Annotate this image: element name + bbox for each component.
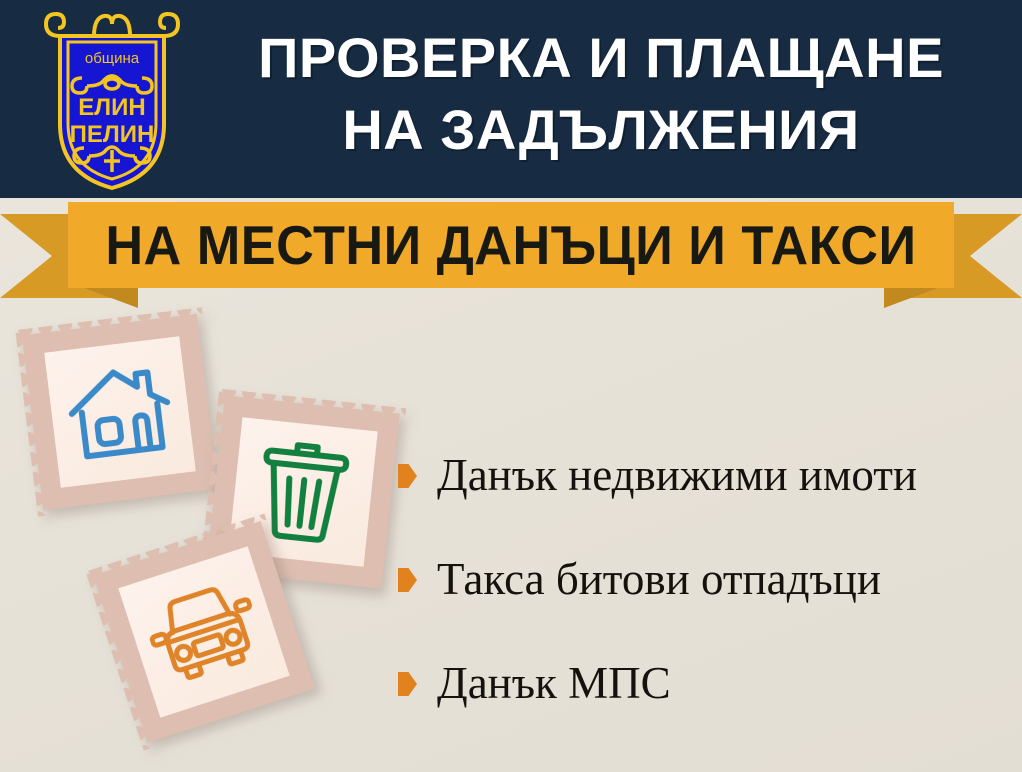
page-title-line2: НА ЗАДЪЛЖЕНИЯ [192, 94, 1010, 166]
stamp-card-property [15, 307, 225, 517]
crest-shield-icon: община ЕЛИН ПЕЛИН [42, 6, 182, 192]
stamp-paper [44, 336, 196, 488]
list-item[interactable]: Данък МПС [398, 632, 1008, 736]
arrow-bullet-icon [398, 672, 417, 696]
municipality-coat-of-arms: община ЕЛИН ПЕЛИН [42, 6, 182, 192]
page-title-line1: ПРОВЕРКА И ПЛАЩАНЕ [258, 26, 944, 89]
crest-label-line1: ЕЛИН [78, 94, 145, 121]
arrow-bullet-icon [398, 568, 417, 592]
poster-canvas: община ЕЛИН ПЕЛИН ПРОВЕРКА И ПЛАЩАНЕ НА … [0, 0, 1022, 772]
subtitle-ribbon: НА МЕСТНИ ДАНЪЦИ И ТАКСИ [0, 196, 1022, 316]
arrow-bullet-icon [398, 464, 417, 488]
list-item-label: Данък МПС [437, 659, 671, 709]
list-item[interactable]: Данък недвижими имоти [398, 424, 1008, 528]
house-icon [63, 358, 178, 466]
list-item-label: Данък недвижими имоти [437, 451, 917, 501]
tax-types-list: Данък недвижими имоти Такса битови отпад… [398, 424, 1008, 736]
header-bar: община ЕЛИН ПЕЛИН ПРОВЕРКА И ПЛАЩАНЕ НА … [0, 0, 1022, 198]
crest-label-line2: ПЕЛИН [70, 121, 155, 148]
ribbon-banner: НА МЕСТНИ ДАНЪЦИ И ТАКСИ [68, 202, 954, 288]
crest-label-top: община [85, 50, 140, 67]
list-item[interactable]: Такса битови отпадъци [398, 528, 1008, 632]
car-icon [139, 574, 268, 689]
page-title: ПРОВЕРКА И ПЛАЩАНЕ НА ЗАДЪЛЖЕНИЯ [192, 22, 1010, 166]
list-item-label: Такса битови отпадъци [437, 555, 881, 605]
ribbon-text: НА МЕСТНИ ДАНЪЦИ И ТАКСИ [105, 213, 916, 277]
